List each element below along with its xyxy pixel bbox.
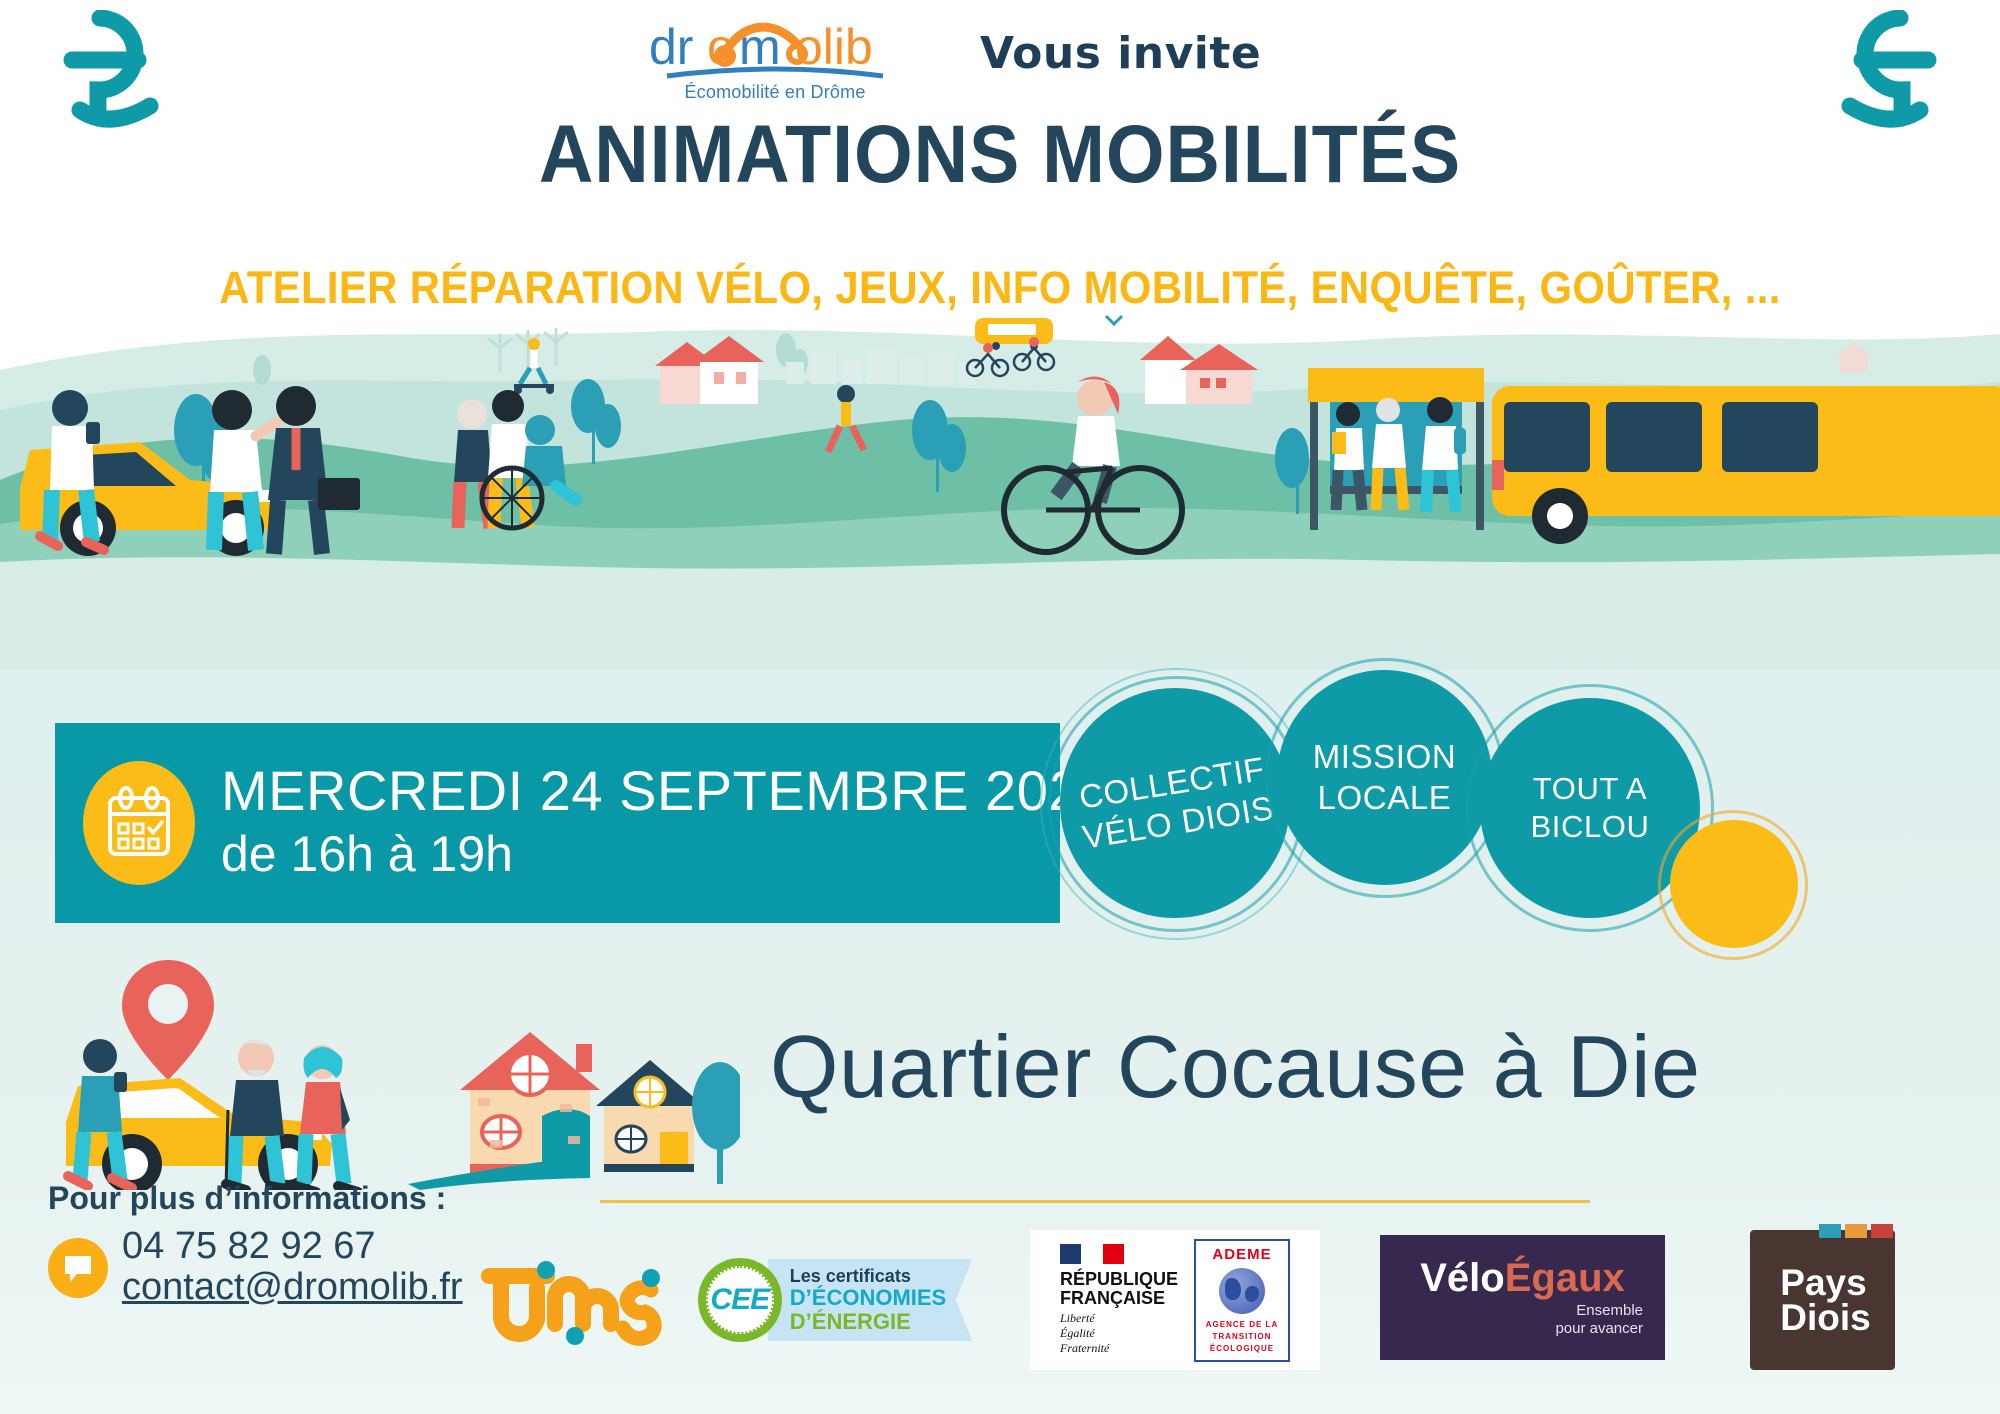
page-title: ANIMATIONS MOBILITÉS bbox=[80, 108, 1920, 202]
tims-logo bbox=[470, 1247, 670, 1357]
svg-text:olib: olib bbox=[795, 19, 873, 75]
cee-line-3: D’ÉNERGIE bbox=[790, 1310, 946, 1333]
cee-badge-text: CEE bbox=[706, 1266, 774, 1334]
ademe-sub-3: ÉCOLOGIQUE bbox=[1204, 1343, 1280, 1355]
ademe-sub-1: AGENCE DE LA bbox=[1204, 1319, 1280, 1331]
contact-details: 04 75 82 92 67 contact@dromolib.fr bbox=[122, 1227, 463, 1309]
veloegaux-tagline-1: Ensemble bbox=[1380, 1302, 1643, 1319]
cee-line-2: D’ÉCONOMIES bbox=[790, 1286, 946, 1309]
svg-text:dr: dr bbox=[649, 19, 693, 75]
invite-text: Vous invite bbox=[980, 28, 1261, 79]
cee-logo: CEE Les certificats D’ÉCONOMIES D’ÉNERGI… bbox=[710, 1245, 960, 1355]
pays-diois-line-1: Pays bbox=[1780, 1265, 1870, 1300]
ademe-sub-2: TRANSITION bbox=[1204, 1331, 1280, 1343]
partner-circle-2-label: MISSIONLOCALE bbox=[1313, 737, 1457, 818]
partner-circle-1-label: COLLECTIFVÉLO DIOIS bbox=[1073, 748, 1276, 858]
contact-title: Pour plus d’informations : bbox=[48, 1180, 568, 1217]
poster: dr o m olib Écomobilité en Drôme Vous in… bbox=[0, 0, 2000, 1414]
page-subtitle: ATELIER RÉPARATION VÉLO, JEUX, INFO MOBI… bbox=[70, 262, 1930, 314]
republique-francaise-logo: RÉPUBLIQUE FRANÇAISE Liberté Égalité Fra… bbox=[1060, 1244, 1178, 1357]
calendar-check-icon bbox=[83, 761, 195, 885]
location-illustration bbox=[20, 940, 740, 1190]
veloegaux-logo: VéloÉgaux Ensemble pour avancer bbox=[1380, 1235, 1665, 1360]
ademe-title: ADEME bbox=[1204, 1246, 1280, 1263]
republique-ademe-logo-block: RÉPUBLIQUE FRANÇAISE Liberté Égalité Fra… bbox=[1030, 1230, 1320, 1370]
chat-bubble-icon bbox=[48, 1238, 108, 1298]
logo-tagline: Écomobilité en Drôme bbox=[640, 82, 910, 103]
republique-line-2: FRANÇAISE bbox=[1060, 1289, 1178, 1308]
republique-name: RÉPUBLIQUE FRANÇAISE bbox=[1060, 1270, 1178, 1308]
republique-line-1: RÉPUBLIQUE bbox=[1060, 1270, 1178, 1289]
event-date: MERCREDI 24 SEPTEMBRE 2025 bbox=[221, 762, 1112, 821]
motto-fraternite: Fraternité bbox=[1060, 1341, 1178, 1356]
ademe-subtitle: AGENCE DE LA TRANSITION ÉCOLOGIQUE bbox=[1204, 1319, 1280, 1355]
pays-diois-color-tabs bbox=[1819, 1224, 1893, 1238]
contact-email[interactable]: contact@dromolib.fr bbox=[122, 1267, 463, 1309]
footer-divider bbox=[600, 1200, 1590, 1203]
globe-icon bbox=[1219, 1268, 1265, 1314]
pays-diois-line-2: Diois bbox=[1780, 1300, 1870, 1335]
pays-diois-wordmark: Pays Diois bbox=[1774, 1265, 1870, 1335]
mobility-illustration bbox=[0, 310, 2000, 670]
veloegaux-part-2: É bbox=[1505, 1256, 1532, 1300]
event-date-banner: MERCREDI 24 SEPTEMBRE 2025 de 16h à 19h bbox=[55, 723, 1060, 923]
event-datetime: MERCREDI 24 SEPTEMBRE 2025 de 16h à 19h bbox=[221, 762, 1112, 885]
motto-liberte: Liberté bbox=[1060, 1311, 1178, 1326]
partner-circle-mission-locale: MISSIONLOCALE bbox=[1277, 670, 1492, 885]
cee-badge: CEE bbox=[698, 1258, 782, 1342]
cee-line-1: Les certificats bbox=[790, 1267, 946, 1286]
veloegaux-part-1: Vélo bbox=[1420, 1256, 1504, 1300]
republique-motto: Liberté Égalité Fraternité bbox=[1060, 1311, 1178, 1356]
event-time: de 16h à 19h bbox=[221, 824, 1112, 884]
cee-flag: Les certificats D’ÉCONOMIES D’ÉNERGIE bbox=[768, 1259, 972, 1341]
yellow-accent-circle bbox=[1670, 820, 1798, 948]
veloegaux-part-3: gaux bbox=[1531, 1256, 1624, 1300]
contact-phone[interactable]: 04 75 82 92 67 bbox=[122, 1227, 463, 1267]
pays-diois-logo: Pays Diois bbox=[1750, 1230, 1895, 1370]
footer-partner-logos: CEE Les certificats D’ÉCONOMIES D’ÉNERGI… bbox=[470, 1225, 2000, 1405]
motto-egalite: Égalité bbox=[1060, 1326, 1178, 1341]
veloegaux-wordmark: VéloÉgaux bbox=[1380, 1258, 1665, 1298]
logo-wordmark: dr o m olib bbox=[640, 14, 910, 80]
event-place: Quartier Cocause à Die bbox=[770, 1016, 1701, 1118]
veloegaux-tagline-2: pour avancer bbox=[1380, 1320, 1643, 1337]
partner-circles: COLLECTIFVÉLO DIOIS MISSIONLOCALE TOUT A… bbox=[1060, 660, 2000, 970]
partner-circle-3-label: TOUT ABICLOU bbox=[1530, 770, 1649, 846]
dromolib-logo: dr o m olib Écomobilité en Drôme bbox=[640, 14, 910, 103]
veloegaux-tagline: Ensemble pour avancer bbox=[1380, 1302, 1665, 1337]
french-flag-icon bbox=[1060, 1244, 1124, 1264]
ademe-logo: ADEME AGENCE DE LA TRANSITION ÉCOLOGIQUE bbox=[1194, 1239, 1290, 1362]
